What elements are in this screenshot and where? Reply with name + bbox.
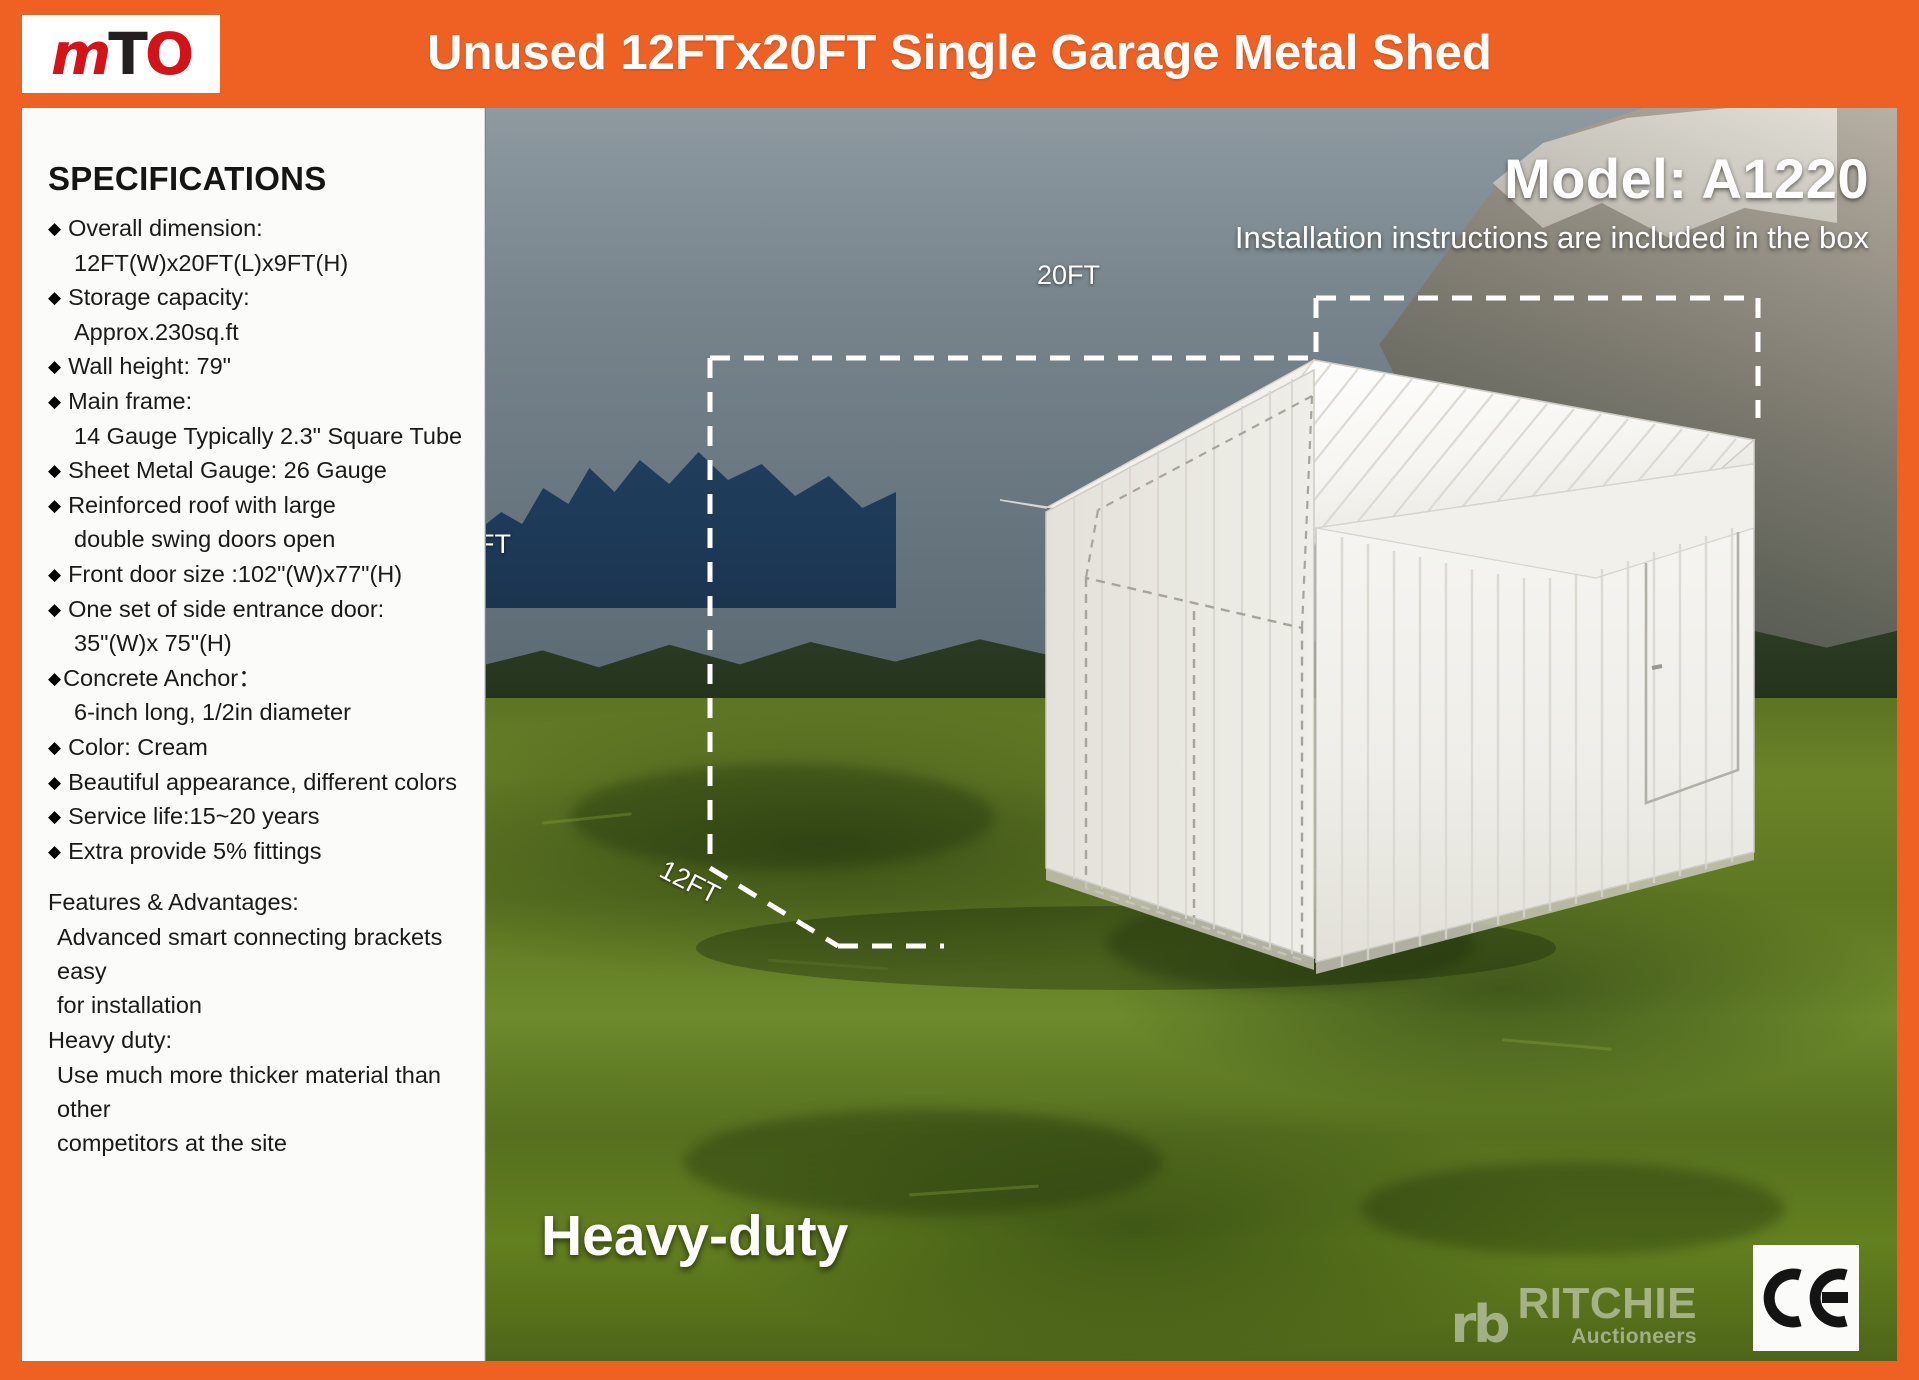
watermark-subtitle: Auctioneers — [1571, 1325, 1697, 1349]
spec-label: Overall dimension: — [68, 212, 263, 246]
spec-sub: double swing doors open — [48, 523, 466, 557]
spec-label: Beautiful appearance, different colors — [68, 766, 457, 800]
rb-logo-icon: rb — [1451, 1302, 1508, 1349]
product-photo: 20FT 9FT 12FT Model: A1220 Installation … — [486, 108, 1897, 1361]
spec-label: Sheet Metal Gauge: 26 Gauge — [68, 454, 387, 488]
product-advertisement-page: mTO Unused 12FTx20FT Single Garage Metal… — [0, 0, 1919, 1380]
diamond-bullet-icon: ◆ — [48, 731, 61, 764]
door-handle-icon — [1652, 666, 1662, 668]
features-body-line-2: for installation — [48, 988, 466, 1022]
spec-label: Front door size :102"(W)x77"(H) — [68, 558, 402, 592]
heavy-duty-body-line-1: Use much more thicker material than othe… — [48, 1058, 466, 1126]
diamond-bullet-icon: ◆ — [48, 558, 61, 591]
model-label: Model: A1220 — [1504, 146, 1869, 211]
diamond-bullet-icon: ◆ — [48, 662, 61, 695]
dimension-label-height: 9FT — [486, 529, 511, 560]
logo-wordmark: mTO — [51, 25, 191, 83]
page-title: Unused 12FTx20FT Single Garage Metal She… — [0, 0, 1919, 106]
watermark-text: RITCHIE Auctioneers — [1518, 1283, 1698, 1349]
spec-sub: 35"(W)x 75"(H) — [48, 627, 466, 661]
diamond-bullet-icon: ◆ — [48, 593, 61, 626]
spec-item: ◆Beautiful appearance, different colors — [48, 766, 466, 800]
diamond-bullet-icon: ◆ — [48, 212, 61, 245]
diamond-bullet-icon: ◆ — [48, 489, 61, 522]
spec-item: ◆Sheet Metal Gauge: 26 Gauge — [48, 454, 466, 488]
diamond-bullet-icon: ◆ — [48, 454, 61, 487]
features-body-line-1: Advanced smart connecting brackets easy — [48, 920, 466, 988]
metal-shed-illustration — [486, 108, 1897, 1361]
diamond-bullet-icon: ◆ — [48, 281, 61, 314]
spec-item: ◆Concrete Anchor： — [48, 662, 466, 696]
heavy-duty-heading: Heavy duty: — [48, 1023, 466, 1057]
spec-item: ◆Wall height: 79" — [48, 350, 466, 384]
diamond-bullet-icon: ◆ — [48, 350, 61, 383]
spec-item: ◆Reinforced roof with large — [48, 489, 466, 523]
spec-item: ◆Overall dimension: — [48, 212, 466, 246]
spec-label: Wall height: 79" — [68, 350, 231, 384]
spec-label: Main frame: — [68, 385, 192, 419]
specifications-panel: SPECIFICATIONS ◆Overall dimension: 12FT(… — [22, 108, 485, 1361]
heavy-duty-body-line-2: competitors at the site — [48, 1126, 466, 1160]
spec-label: Reinforced roof with large — [68, 489, 336, 523]
logo-letter-m: m — [51, 20, 108, 88]
features-heading: Features & Advantages: — [48, 885, 466, 919]
spec-label: One set of side entrance door: — [68, 593, 384, 627]
logo-letter-t: T — [108, 20, 145, 88]
ce-mark-badge — [1753, 1245, 1859, 1351]
instructions-note: Installation instructions are included i… — [1235, 220, 1869, 256]
logo-letter-o: O — [145, 20, 191, 88]
spec-item: ◆Service life:15~20 years — [48, 800, 466, 834]
ritchie-bros-watermark: rb RITCHIE Auctioneers — [1451, 1283, 1697, 1349]
diamond-bullet-icon: ◆ — [48, 835, 61, 868]
spec-label: Service life:15~20 years — [68, 800, 319, 834]
ce-mark-icon — [1760, 1267, 1852, 1329]
spec-label: Color: Cream — [68, 731, 208, 765]
spec-sub: 6-inch long, 1/2in diameter — [48, 696, 466, 730]
spec-sub: 14 Gauge Typically 2.3" Square Tube — [48, 420, 466, 454]
diamond-bullet-icon: ◆ — [48, 766, 61, 799]
dimension-label-length: 20FT — [1037, 260, 1100, 291]
spec-item: ◆Extra provide 5% fittings — [48, 835, 466, 869]
spec-item: ◆Color: Cream — [48, 731, 466, 765]
watermark-name: RITCHIE — [1518, 1283, 1698, 1325]
header-bar: mTO Unused 12FTx20FT Single Garage Metal… — [0, 0, 1919, 106]
spacer — [48, 869, 466, 885]
diamond-bullet-icon: ◆ — [48, 385, 61, 418]
specifications-heading: SPECIFICATIONS — [48, 160, 466, 198]
spec-label: Extra provide 5% fittings — [68, 835, 321, 869]
spec-sub: Approx.230sq.ft — [48, 316, 466, 350]
spec-item: ◆Main frame: — [48, 385, 466, 419]
diamond-bullet-icon: ◆ — [48, 800, 61, 833]
heavy-duty-caption: Heavy-duty — [541, 1203, 848, 1269]
brand-logo: mTO — [22, 15, 220, 93]
spec-label: Concrete Anchor： — [63, 662, 262, 696]
spec-item: ◆One set of side entrance door: — [48, 593, 466, 627]
spec-label: Storage capacity: — [68, 281, 250, 315]
spec-item: ◆Front door size :102"(W)x77"(H) — [48, 558, 466, 592]
spec-sub: 12FT(W)x20FT(L)x9FT(H) — [48, 247, 466, 281]
spec-item: ◆Storage capacity: — [48, 281, 466, 315]
